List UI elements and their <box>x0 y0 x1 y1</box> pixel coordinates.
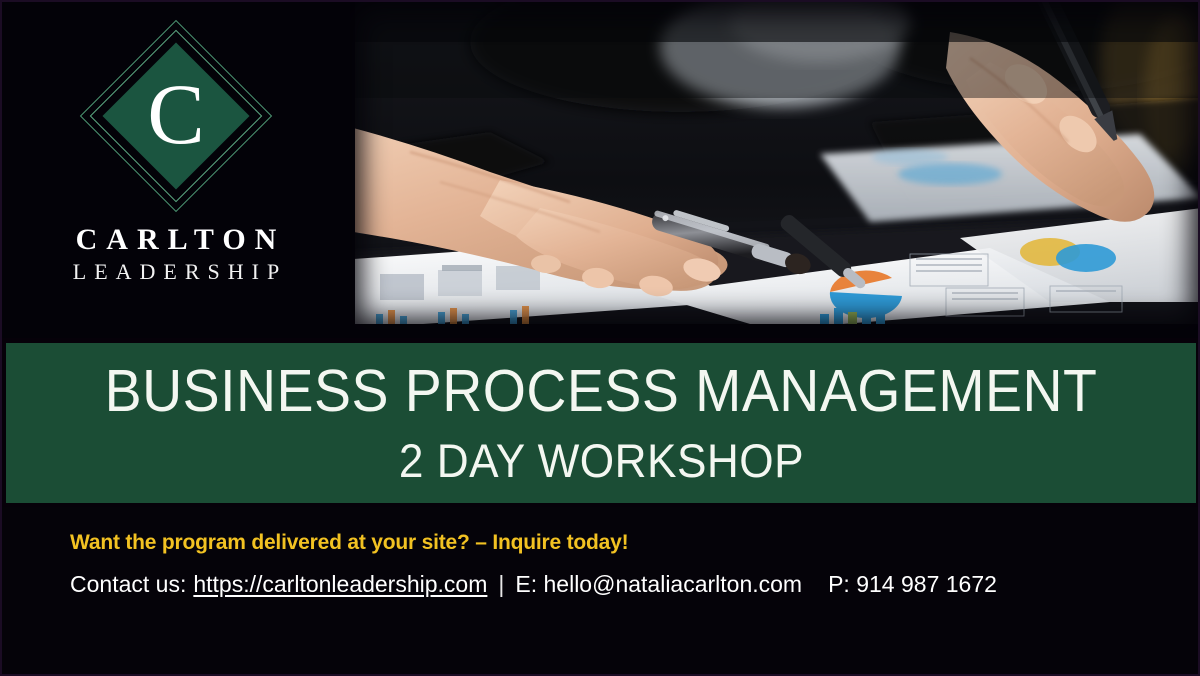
website-link[interactable]: https://carltonleadership.com <box>193 571 487 598</box>
title-banner: BUSINESS PROCESS MANAGEMENT 2 DAY WORKSH… <box>6 343 1196 503</box>
brand-name-primary: CARLTON <box>65 224 287 256</box>
promo-poster: C CARLTON LEADERSHIP <box>0 0 1200 676</box>
contact-row: Contact us: https://carltonleadership.co… <box>70 571 1200 598</box>
contact-separator: | <box>498 571 504 598</box>
hero-photo <box>350 2 1200 330</box>
monogram-letter: C <box>76 16 276 216</box>
phone-number[interactable]: P: 914 987 1672 <box>828 571 997 598</box>
photo-left-edge <box>350 2 355 330</box>
brand-name-secondary: LEADERSHIP <box>65 260 287 283</box>
banner-title: BUSINESS PROCESS MANAGEMENT <box>105 362 1098 421</box>
brand-wordmark: CARLTON LEADERSHIP <box>65 224 287 283</box>
diamond-logo-icon: C <box>76 16 276 216</box>
hero-photo-illustration <box>350 2 1200 330</box>
brand-logo-panel: C CARLTON LEADERSHIP <box>2 2 350 338</box>
header-section: C CARLTON LEADERSHIP <box>2 2 1200 338</box>
banner-subtitle: 2 DAY WORKSHOP <box>398 437 803 484</box>
footer-tagline: Want the program delivered at your site?… <box>70 531 1200 555</box>
contact-label: Contact us: <box>70 571 186 598</box>
footer-section: Want the program delivered at your site?… <box>2 507 1200 676</box>
photo-bottom-edge <box>350 324 1200 330</box>
email-link[interactable]: E: hello@nataliacarlton.com <box>515 571 802 598</box>
